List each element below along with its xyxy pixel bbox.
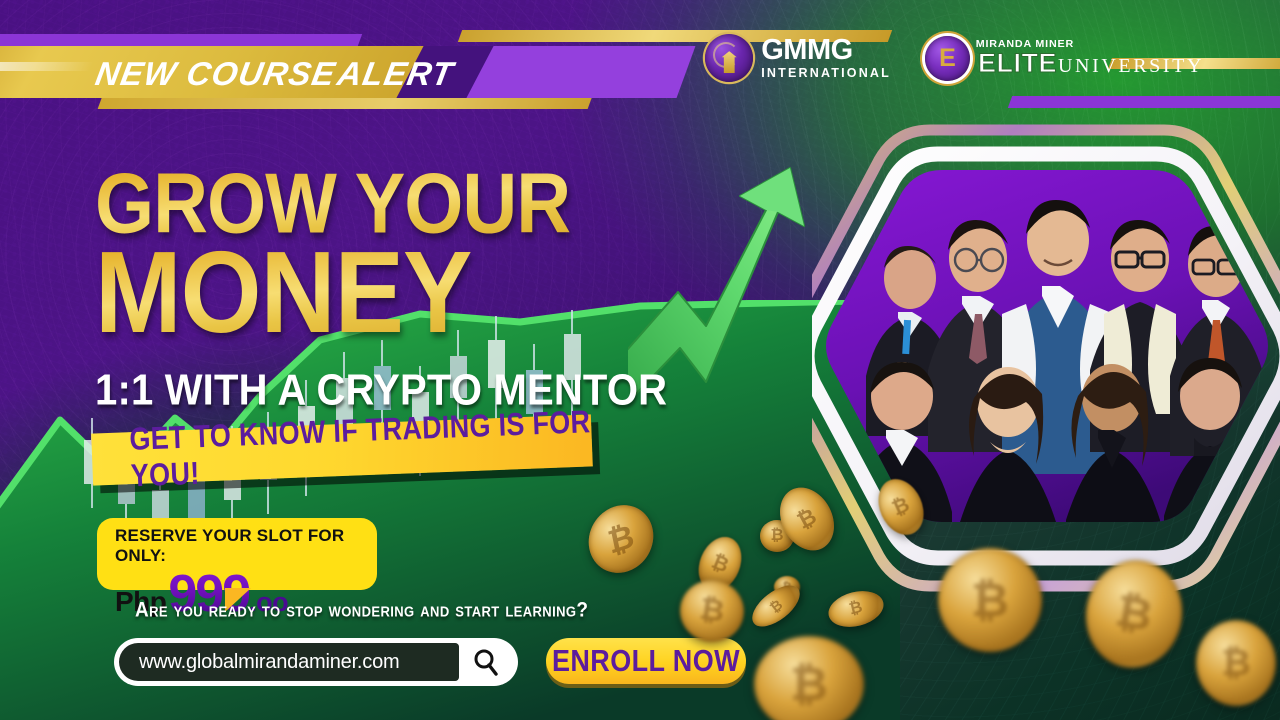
price-card: RESERVE YOUR SLOT FOR ONLY: Php 999 .oo [97,518,377,590]
gmmg-logo-tagline: INTERNATIONAL [761,67,891,80]
alert-label: ALERT [334,50,458,98]
elite-university-logo: MIRANDA MINER ELITE UNIVERSITY [925,36,1204,81]
headline-block: GROW YOUR MONEY 1:1 WITH A CRYPTO MENTOR [95,170,735,411]
search-icon[interactable] [459,647,513,677]
mentors-group-photo [812,108,1280,648]
trading-ribbon: GET TO KNOW IF TRADING IS FOR YOU! [91,414,593,485]
promo-banner: NEW COURSE ALERT GMMG INTERNATIONAL MIRA… [0,0,1280,720]
enroll-now-button[interactable]: ENROLL NOW [546,638,746,684]
bitcoin-coin: ₿ [1196,620,1276,706]
elite-logo-eyebrow: MIRANDA MINER [976,39,1207,50]
gmmg-circle-icon [705,34,753,82]
decor-stripe-purple-bottom [1008,96,1280,108]
new-course-label: NEW COURSE [92,50,340,98]
bitcoin-coin: ₿ [938,548,1042,652]
gmmg-logo: GMMG INTERNATIONAL [705,34,891,82]
question-text: Are you ready to stop wondering and star… [135,599,588,624]
elite-logo-suffix: UNIVERSITY [1058,56,1204,76]
alert-bar-shine [0,62,94,71]
elite-logo-word: ELITE [978,50,1057,77]
headline-line-2: MONEY [95,246,735,341]
enroll-now-label: ENROLL NOW [552,644,740,679]
price-label: RESERVE YOUR SLOT FOR ONLY: [115,526,377,566]
gmmg-logo-name: GMMG [761,36,891,65]
brand-logos: GMMG INTERNATIONAL MIRANDA MINER ELITE U… [705,34,1204,82]
website-url-bar[interactable]: www.globalmirandaminer.com [114,638,518,686]
headline-subtitle: 1:1 WITH A CRYPTO MENTOR [95,366,735,416]
decor-stripe-purple-top [0,34,362,46]
elite-e-circle-icon [925,36,970,81]
website-url-text: www.globalmirandaminer.com [119,643,459,681]
